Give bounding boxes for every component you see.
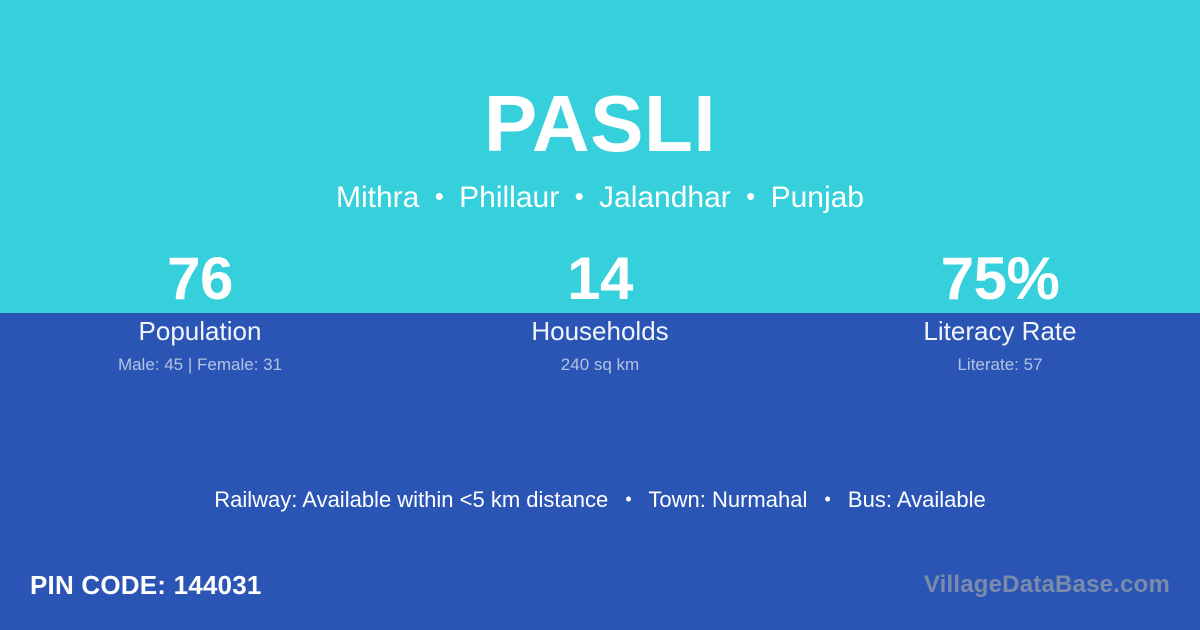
pin-code: PIN CODE: 144031	[30, 570, 262, 600]
stat-households-label: Households	[400, 316, 800, 346]
breadcrumb-tehsil: Phillaur	[459, 181, 559, 214]
stat-population-label: Population	[0, 316, 400, 346]
stat-literacy-value: 75%	[800, 248, 1200, 310]
stat-literacy: 75% Literacy Rate Literate: 57	[800, 248, 1200, 376]
breadcrumb-state: Punjab	[771, 181, 864, 214]
card-footer: PIN CODE: 144031 VillageDataBase.com	[0, 550, 1200, 630]
stat-literacy-label: Literacy Rate	[800, 316, 1200, 346]
facility-bus: Bus: Available	[848, 487, 986, 512]
stat-households: 14 Households 240 sq km	[400, 248, 800, 376]
breadcrumb-district: Jalandhar	[599, 181, 731, 214]
breadcrumb-separator-icon: •	[428, 181, 451, 211]
stat-households-area: 240 sq km	[400, 354, 800, 376]
facility-railway: Railway: Available within <5 km distance	[214, 487, 608, 512]
stat-population: 76 Population Male: 45 | Female: 31	[0, 248, 400, 376]
facility-separator-icon: •	[614, 489, 642, 509]
page-title: PASLI	[0, 0, 1200, 166]
facility-town: Town: Nurmahal	[648, 487, 807, 512]
site-brand: VillageDataBase.com	[924, 571, 1170, 599]
village-info-card: PASLI Mithra • Phillaur • Jalandhar • Pu…	[0, 0, 1200, 630]
facilities-line: Railway: Available within <5 km distance…	[0, 484, 1200, 515]
stat-population-value: 76	[0, 248, 400, 310]
breadcrumb-separator-icon: •	[739, 181, 762, 211]
breadcrumb-block: Mithra	[336, 181, 419, 214]
breadcrumb-separator-icon: •	[568, 181, 591, 211]
facility-separator-icon: •	[813, 489, 841, 509]
stats-row: 76 Population Male: 45 | Female: 31 14 H…	[0, 248, 1200, 376]
card-header: PASLI Mithra • Phillaur • Jalandhar • Pu…	[0, 0, 1200, 216]
stat-population-breakdown: Male: 45 | Female: 31	[0, 354, 400, 376]
breadcrumb: Mithra • Phillaur • Jalandhar • Punjab	[0, 166, 1200, 216]
stat-households-value: 14	[400, 248, 800, 310]
stat-literacy-count: Literate: 57	[800, 354, 1200, 376]
